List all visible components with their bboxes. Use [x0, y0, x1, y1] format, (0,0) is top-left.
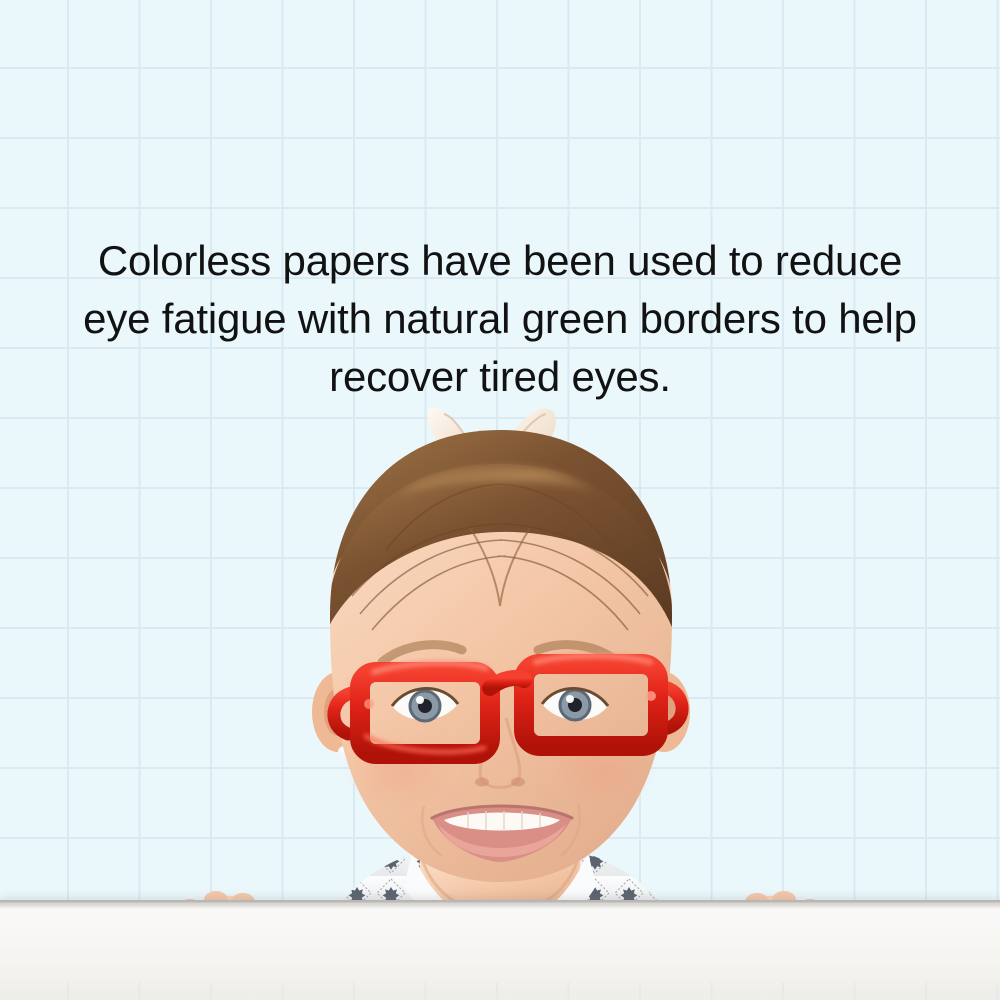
poster-canvas: Colorless papers have been used to reduc…	[0, 0, 1000, 1000]
white-board	[0, 900, 1000, 1000]
board-bottom-shading	[0, 982, 1000, 1000]
headline-text: Colorless papers have been used to reduc…	[0, 232, 1000, 406]
board-top-edge	[0, 900, 1000, 910]
